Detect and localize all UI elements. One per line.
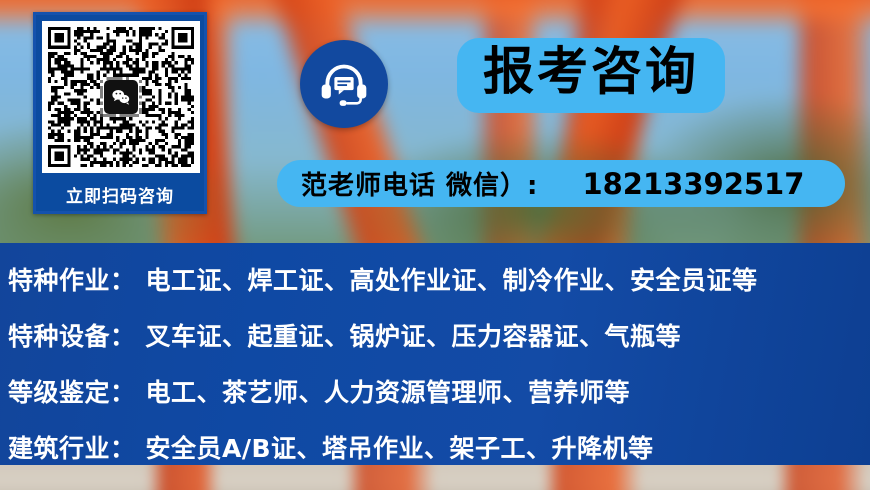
list-item: 等级鉴定：电工、茶艺师、人力资源管理师、营养师等	[8, 373, 870, 409]
category-items: 叉车证、起重证、锅炉证、压力容器证、气瓶等	[146, 322, 682, 351]
bottom-crane-photo	[0, 465, 870, 490]
contact-phone-number[interactable]: 18213392517	[582, 167, 804, 201]
qr-code-card[interactable]: 立即扫码咨询	[33, 12, 207, 214]
contact-info-pill[interactable]: 范老师电话 微信）: 18213392517	[277, 160, 845, 207]
category-label: 建筑行业：	[8, 434, 136, 463]
category-items: 电工、茶艺师、人力资源管理师、营养师等	[146, 378, 631, 407]
promo-banner: 立即扫码咨询 报考咨询 范老师电话 微信）: 18213392517 特种作业：…	[0, 0, 870, 490]
certificate-category-list: 特种作业：电工证、焊工证、高处作业证、制冷作业、安全员证等 特种设备：叉车证、起…	[0, 243, 870, 465]
bottom-photo-strip	[0, 465, 870, 490]
category-items: 电工证、焊工证、高处作业证、制冷作业、安全员证等	[146, 266, 758, 295]
wechat-icon	[104, 80, 138, 114]
qr-code-icon	[48, 27, 194, 167]
contact-label: 范老师电话 微信）:	[301, 165, 538, 202]
page-title: 报考咨询	[457, 38, 725, 113]
qr-card-caption: 立即扫码咨询	[36, 182, 204, 207]
category-label: 特种作业：	[8, 266, 136, 295]
qr-code-image[interactable]	[42, 21, 200, 173]
category-items: 安全员A/B证、塔吊作业、架子工、升降机等	[146, 434, 654, 463]
category-label: 特种设备：	[8, 322, 136, 351]
headset-support-icon	[300, 40, 388, 128]
list-item: 特种作业：电工证、焊工证、高处作业证、制冷作业、安全员证等	[8, 261, 870, 297]
list-item: 建筑行业：安全员A/B证、塔吊作业、架子工、升降机等	[8, 429, 870, 465]
category-label: 等级鉴定：	[8, 378, 136, 407]
list-item: 特种设备：叉车证、起重证、锅炉证、压力容器证、气瓶等	[8, 317, 870, 353]
